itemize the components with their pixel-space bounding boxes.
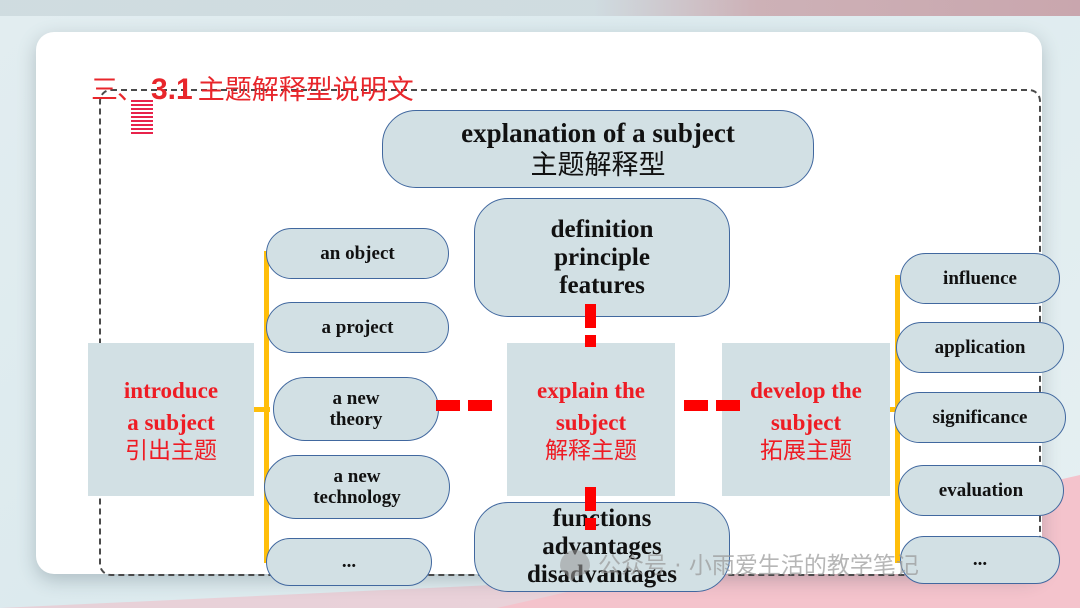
left-item-label-0: an object [320, 243, 394, 264]
left-item-label-2-line1: a new [333, 388, 380, 409]
background-top-strip [0, 0, 1080, 16]
right-item-label-3: evaluation [939, 480, 1023, 501]
list-item[interactable]: an object [266, 228, 449, 279]
red-arrow-dash [436, 400, 460, 411]
node-top-en: explanation of a subject [461, 118, 735, 148]
red-arrow-dash [585, 304, 596, 328]
functions-line-3: disadvantages [527, 561, 677, 589]
definition-line-3: features [559, 272, 645, 300]
explain-cn: 解释主题 [545, 438, 637, 464]
develop-en-line-2: subject [771, 410, 841, 436]
right-item-label-0: influence [943, 268, 1017, 289]
red-arrow-dash [468, 400, 492, 411]
node-develop-the-subject[interactable]: develop the subject 拓展主题 [722, 343, 890, 496]
red-arrow-dash [716, 400, 740, 411]
list-item[interactable]: significance [894, 392, 1066, 443]
striped-bar-icon [131, 100, 153, 136]
left-item-label-1: a project [322, 317, 394, 338]
introduce-en-line-1: introduce [124, 378, 218, 404]
list-item[interactable]: a new theory [273, 377, 439, 441]
node-functions-advantages-disadvantages[interactable]: functions advantages disadvantages [474, 502, 730, 592]
functions-line-2: advantages [542, 533, 661, 561]
right-item-label-2: significance [933, 407, 1028, 428]
left-item-label-3-line2: technology [313, 487, 401, 508]
definition-line-2: principle [554, 244, 650, 272]
list-item[interactable]: a project [266, 302, 449, 353]
left-item-label-4: ... [342, 551, 356, 572]
list-item[interactable]: evaluation [898, 465, 1064, 516]
left-item-label-2-line2: theory [330, 409, 383, 430]
list-item[interactable]: application [896, 322, 1064, 373]
left-item-label-3-line1: a new [334, 466, 381, 487]
explain-en-line-1: explain the [537, 378, 645, 404]
red-arrow-dash [585, 335, 596, 347]
node-introduce-a-subject[interactable]: introduce a subject 引出主题 [88, 343, 254, 496]
introduce-cn: 引出主题 [125, 438, 217, 464]
title-main-text: 主题解释型说明文 [198, 68, 414, 107]
list-item[interactable]: a new technology [264, 455, 450, 519]
red-arrow-dash [585, 487, 596, 511]
node-top-cn: 主题解释型 [531, 150, 666, 180]
node-definition-principle-features[interactable]: definition principle features [474, 198, 730, 317]
list-item[interactable]: ... [900, 536, 1060, 584]
explain-en-line-2: subject [556, 410, 626, 436]
develop-en-line-1: develop the [750, 378, 862, 404]
introduce-en-line-2: a subject [127, 410, 215, 436]
definition-line-1: definition [551, 216, 654, 244]
right-item-label-1: application [935, 337, 1026, 358]
develop-cn: 拓展主题 [760, 438, 852, 464]
right-item-label-4: ... [973, 549, 987, 570]
red-arrow-dash [585, 518, 596, 530]
list-item[interactable]: influence [900, 253, 1060, 304]
node-explanation-of-a-subject[interactable]: explanation of a subject 主题解释型 [382, 110, 814, 188]
list-item[interactable]: ... [266, 538, 432, 586]
node-explain-the-subject[interactable]: explain the subject 解释主题 [507, 343, 675, 496]
title-number: 3.1 [151, 73, 193, 107]
red-arrow-dash [684, 400, 708, 411]
functions-line-1: functions [553, 505, 652, 533]
slide-card: 三、 3.1 主题解释型说明文 explanation of a subject… [36, 32, 1042, 574]
